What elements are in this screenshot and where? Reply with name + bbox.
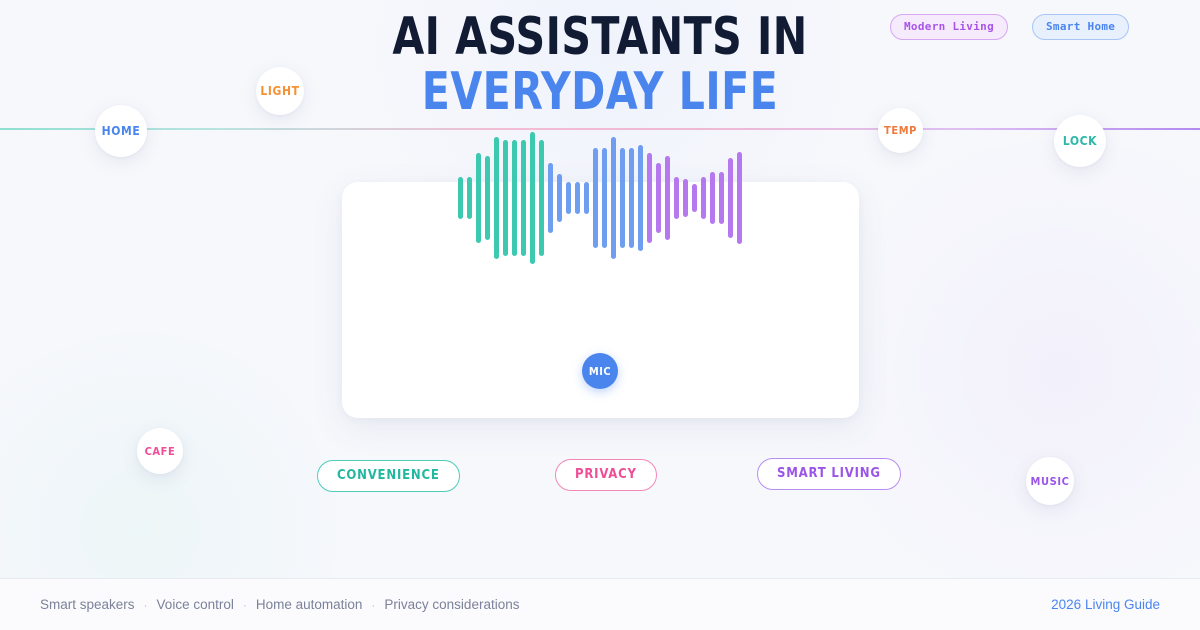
page-footer: Smart speakers·Voice control·Home automa…	[0, 578, 1200, 630]
gradient-divider-line	[0, 128, 1200, 130]
footer-link-list: Smart speakers·Voice control·Home automa…	[40, 597, 519, 612]
footer-link[interactable]: Smart speakers	[40, 597, 135, 612]
theme-pill-convenience[interactable]: Convenience	[317, 460, 460, 492]
chip-lock[interactable]: LOCK	[1054, 115, 1106, 167]
page-title-line-2: Everyday Life	[72, 65, 1128, 120]
footer-link[interactable]: Voice control	[157, 597, 234, 612]
footer-separator: ·	[144, 598, 148, 612]
hero-header: AI Assistants in Everyday Life	[0, 10, 1200, 119]
mic-button[interactable]: MIC	[582, 353, 618, 389]
theme-pill-smart-living[interactable]: Smart Living	[757, 458, 901, 490]
footer-link[interactable]: Privacy considerations	[384, 597, 519, 612]
chip-cafe[interactable]: CAFE	[137, 428, 183, 474]
footer-separator: ·	[243, 598, 247, 612]
footer-link[interactable]: Home automation	[256, 597, 363, 612]
theme-pill-privacy[interactable]: Privacy	[555, 459, 657, 491]
chip-music[interactable]: MUSIC	[1026, 457, 1074, 505]
tag-modern-living[interactable]: Modern Living	[890, 14, 1008, 40]
footer-separator: ·	[371, 598, 375, 612]
tag-smart-home[interactable]: Smart Home	[1032, 14, 1129, 40]
footer-credit: 2026 Living Guide	[1051, 597, 1160, 612]
